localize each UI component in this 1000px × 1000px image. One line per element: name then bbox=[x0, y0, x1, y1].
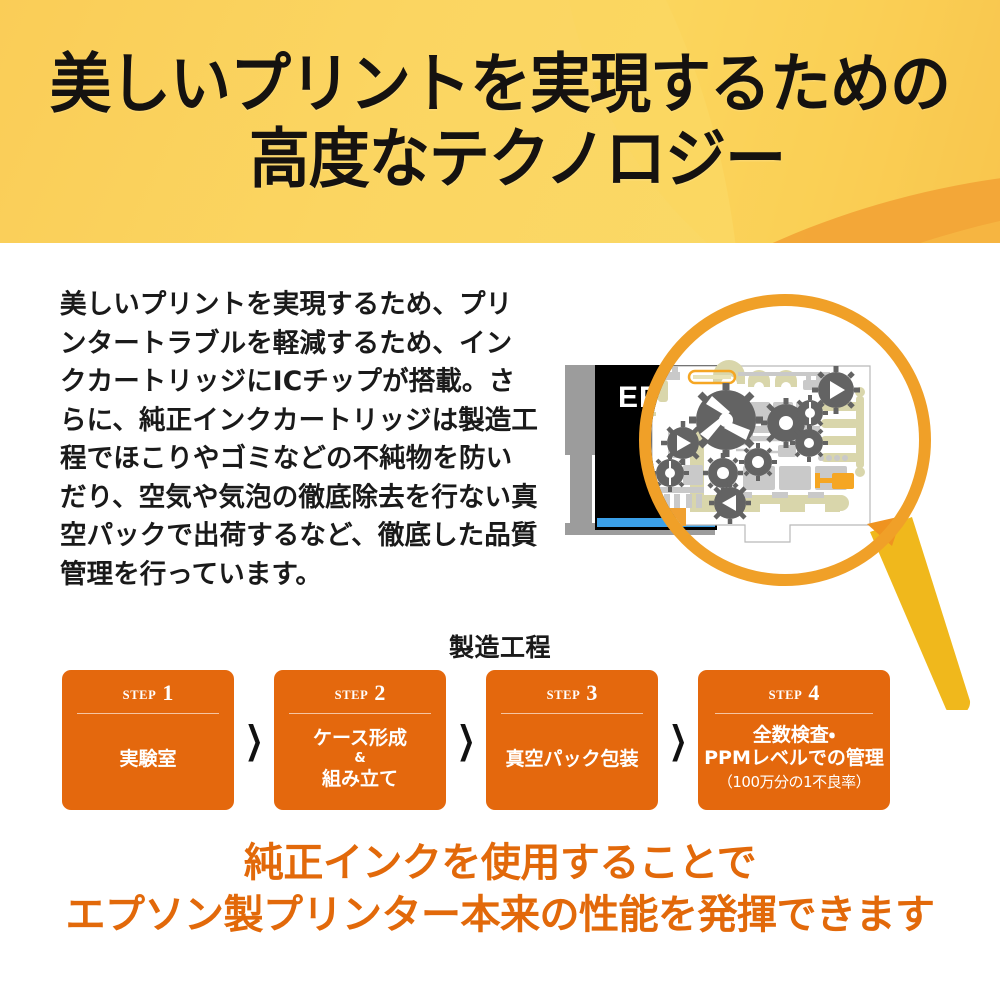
step-4-body: 全数検査・ PPMレベルでの管理 （100万分の1不良率） bbox=[698, 714, 890, 810]
chevron-right-icon-1: ❯ bbox=[240, 653, 269, 828]
step-3-label: STEP bbox=[547, 688, 581, 703]
tagline-line-1: 純正インクを使用することで bbox=[0, 840, 1000, 887]
chevron-right-icon-2: ❯ bbox=[452, 653, 481, 828]
step-2-body: ケース形成 & 組み立て bbox=[307, 714, 413, 810]
step-1-number: 1 bbox=[162, 682, 173, 704]
step-3-body: 真空パック包装 bbox=[499, 714, 644, 810]
infographic-page: 美しいプリントを実現するための 高度なテクノロジー 美しいプリントを実現するため… bbox=[0, 0, 1000, 1000]
step-2-header: STEP 2 bbox=[335, 681, 386, 707]
step-4-number: 4 bbox=[808, 682, 819, 704]
step-4-line-1: 全数検査・ bbox=[753, 724, 835, 747]
step-4-header: STEP 4 bbox=[769, 681, 820, 707]
hero-title-group: 美しいプリントを実現するための 高度なテクノロジー bbox=[0, 0, 1000, 243]
step-4-note: （100万分の1不良率） bbox=[718, 770, 870, 794]
process-step-1[interactable]: STEP 1 実験室 bbox=[62, 670, 234, 810]
tagline-line-2: エプソン製プリンター本来の性能を発揮できます bbox=[0, 892, 1000, 939]
process-step-3[interactable]: STEP 3 真空パック包装 bbox=[486, 670, 658, 810]
hero-title-line1: 美しいプリントを実現するための bbox=[50, 52, 950, 117]
process-step-4[interactable]: STEP 4 全数検査・ PPMレベルでの管理 （100万分の1不良率） bbox=[698, 670, 890, 810]
circuit-board-graphic bbox=[646, 360, 870, 542]
step-1-line-1: 実験室 bbox=[119, 748, 176, 771]
chevron-right-icon-3: ❯ bbox=[664, 653, 693, 828]
step-2-number: 2 bbox=[374, 682, 385, 704]
description-text: 美しいプリントを実現するため、プリンタートラブルを軽減するため、インクカートリッ… bbox=[60, 286, 538, 594]
footer-tagline: 純正インクを使用することで エプソン製プリンター本来の性能を発揮できます bbox=[0, 840, 1000, 939]
step-2-line-3: 組み立て bbox=[322, 768, 398, 791]
process-steps: STEP 1 実験室 ❯ STEP 2 ケース形成 & 組み立て ❯ bbox=[62, 670, 938, 810]
step-1-body: 実験室 bbox=[113, 714, 182, 810]
step-2-line-2: & bbox=[354, 750, 365, 768]
header-banner: 美しいプリントを実現するための 高度なテクノロジー bbox=[0, 0, 1000, 243]
description-paragraph: 美しいプリントを実現するため、プリンタートラブルを軽減するため、インクカートリッ… bbox=[60, 286, 538, 594]
step-2-line-1: ケース形成 bbox=[313, 727, 407, 750]
process-step-2[interactable]: STEP 2 ケース形成 & 組み立て bbox=[274, 670, 446, 810]
step-2-label: STEP bbox=[335, 688, 369, 703]
step-3-line-1: 真空パック包装 bbox=[505, 748, 638, 771]
step-1-header: STEP 1 bbox=[123, 681, 174, 707]
step-3-header: STEP 3 bbox=[547, 681, 598, 707]
hero-title-line2: 高度なテクノロジー bbox=[249, 127, 785, 192]
step-4-label: STEP bbox=[769, 688, 803, 703]
step-4-line-2: PPMレベルでの管理 bbox=[704, 747, 884, 770]
step-3-number: 3 bbox=[586, 682, 597, 704]
step-1-label: STEP bbox=[123, 688, 157, 703]
process-title: 製造工程 bbox=[0, 628, 1000, 664]
